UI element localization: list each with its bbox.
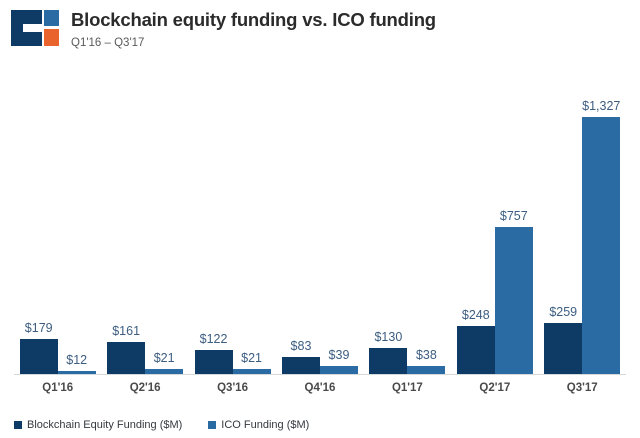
chart-header: Blockchain equity funding vs. ICO fundin…	[0, 0, 640, 56]
equity-bar[interactable]	[457, 326, 495, 374]
bar-group: $130$38	[364, 63, 451, 374]
legend-item[interactable]: ICO Funding ($M)	[208, 419, 309, 432]
legend-swatch-icon	[208, 421, 216, 429]
x-axis-line	[14, 374, 626, 376]
ico-bar[interactable]	[495, 227, 533, 374]
legend-swatch-icon	[14, 421, 22, 429]
equity-bar-wrap: $130	[369, 63, 407, 374]
ico-bar-wrap: $39	[320, 63, 358, 374]
bar-group: $83$39	[276, 63, 363, 374]
legend-label: Blockchain Equity Funding ($M)	[27, 419, 182, 432]
plot-area: $179$12$161$21$122$21$83$39$130$38$248$7…	[0, 62, 640, 375]
bar-value-label: $12	[66, 353, 87, 367]
equity-bar[interactable]	[195, 350, 233, 374]
bar-group: $122$21	[189, 63, 276, 374]
bar-group: $161$21	[101, 63, 188, 374]
page-subtitle: Q1'16 – Q3'17	[71, 35, 436, 51]
page-title: Blockchain equity funding vs. ICO fundin…	[71, 9, 436, 31]
bar-value-label: $39	[329, 348, 350, 362]
x-axis-tick: Q4'16	[276, 378, 363, 398]
equity-bar-wrap: $179	[20, 63, 58, 374]
bar-value-label: $757	[500, 209, 528, 223]
equity-bar-wrap: $161	[107, 63, 145, 374]
ico-bar-wrap: $12	[58, 63, 96, 374]
ico-bar-wrap: $1,327	[582, 63, 620, 374]
x-axis-tick: Q2'17	[451, 378, 538, 398]
x-axis-tick-labels: Q1'16Q2'16Q3'16Q4'16Q1'17Q2'17Q3'17	[14, 378, 626, 398]
equity-bar-wrap: $248	[457, 63, 495, 374]
cb-insights-logo	[11, 10, 59, 46]
bar-value-label: $21	[154, 351, 175, 365]
ico-bar[interactable]	[320, 366, 358, 374]
bar-value-label: $161	[112, 324, 140, 338]
equity-bar[interactable]	[544, 323, 582, 373]
bar-value-label: $83	[291, 339, 312, 353]
bar-value-label: $122	[200, 332, 228, 346]
x-axis-tick: Q2'16	[101, 378, 188, 398]
ico-bar[interactable]	[582, 117, 620, 374]
x-axis-tick: Q3'16	[189, 378, 276, 398]
logo-square-bottom-icon	[44, 29, 59, 46]
bar-value-label: $130	[374, 330, 402, 344]
chart-legend: Blockchain Equity Funding ($M)ICO Fundin…	[14, 416, 335, 434]
legend-label: ICO Funding ($M)	[221, 419, 309, 432]
ico-bar[interactable]	[407, 366, 445, 373]
ico-bar-wrap: $757	[495, 63, 533, 374]
logo-c-notch	[23, 24, 42, 32]
bar-group: $248$757	[451, 63, 538, 374]
x-axis-tick: Q1'17	[364, 378, 451, 398]
ico-bar-wrap: $21	[145, 63, 183, 374]
bar-value-label: $1,327	[582, 99, 620, 113]
bar-value-label: $179	[25, 321, 53, 335]
equity-bar[interactable]	[20, 339, 58, 374]
bar-group: $259$1,327	[539, 63, 626, 374]
chart-page: Blockchain equity funding vs. ICO fundin…	[0, 0, 640, 438]
x-axis-tick: Q1'16	[14, 378, 101, 398]
logo-square-top-icon	[44, 10, 59, 26]
bar-value-label: $259	[549, 305, 577, 319]
title-block: Blockchain equity funding vs. ICO fundin…	[71, 9, 436, 51]
equity-bar-wrap: $259	[544, 63, 582, 374]
ico-bar-wrap: $38	[407, 63, 445, 374]
bar-group: $179$12	[14, 63, 101, 374]
bar-groups: $179$12$161$21$122$21$83$39$130$38$248$7…	[14, 63, 626, 374]
equity-bar[interactable]	[369, 348, 407, 373]
equity-bar[interactable]	[282, 357, 320, 373]
legend-item[interactable]: Blockchain Equity Funding ($M)	[14, 419, 182, 432]
bar-value-label: $21	[241, 351, 262, 365]
equity-bar-wrap: $83	[282, 63, 320, 374]
ico-bar-wrap: $21	[233, 63, 271, 374]
bar-value-label: $38	[416, 348, 437, 362]
bar-value-label: $248	[462, 308, 490, 322]
equity-bar[interactable]	[107, 342, 145, 373]
x-axis-tick: Q3'17	[539, 378, 626, 398]
equity-bar-wrap: $122	[195, 63, 233, 374]
